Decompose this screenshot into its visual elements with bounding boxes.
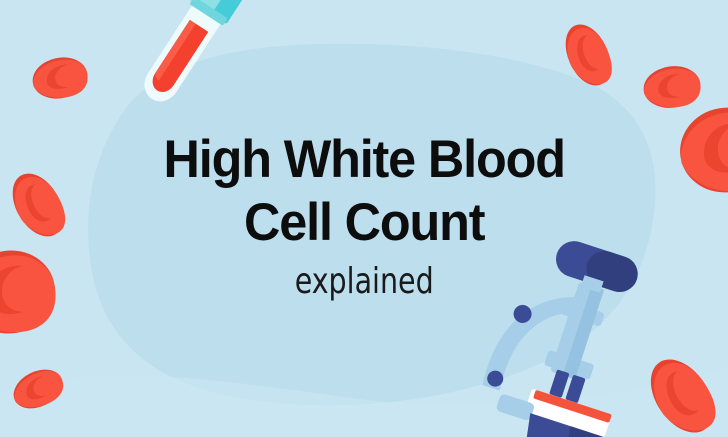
illustration-layer bbox=[0, 0, 728, 437]
hero-banner: High White Blood Cell Count explained bbox=[0, 0, 728, 437]
